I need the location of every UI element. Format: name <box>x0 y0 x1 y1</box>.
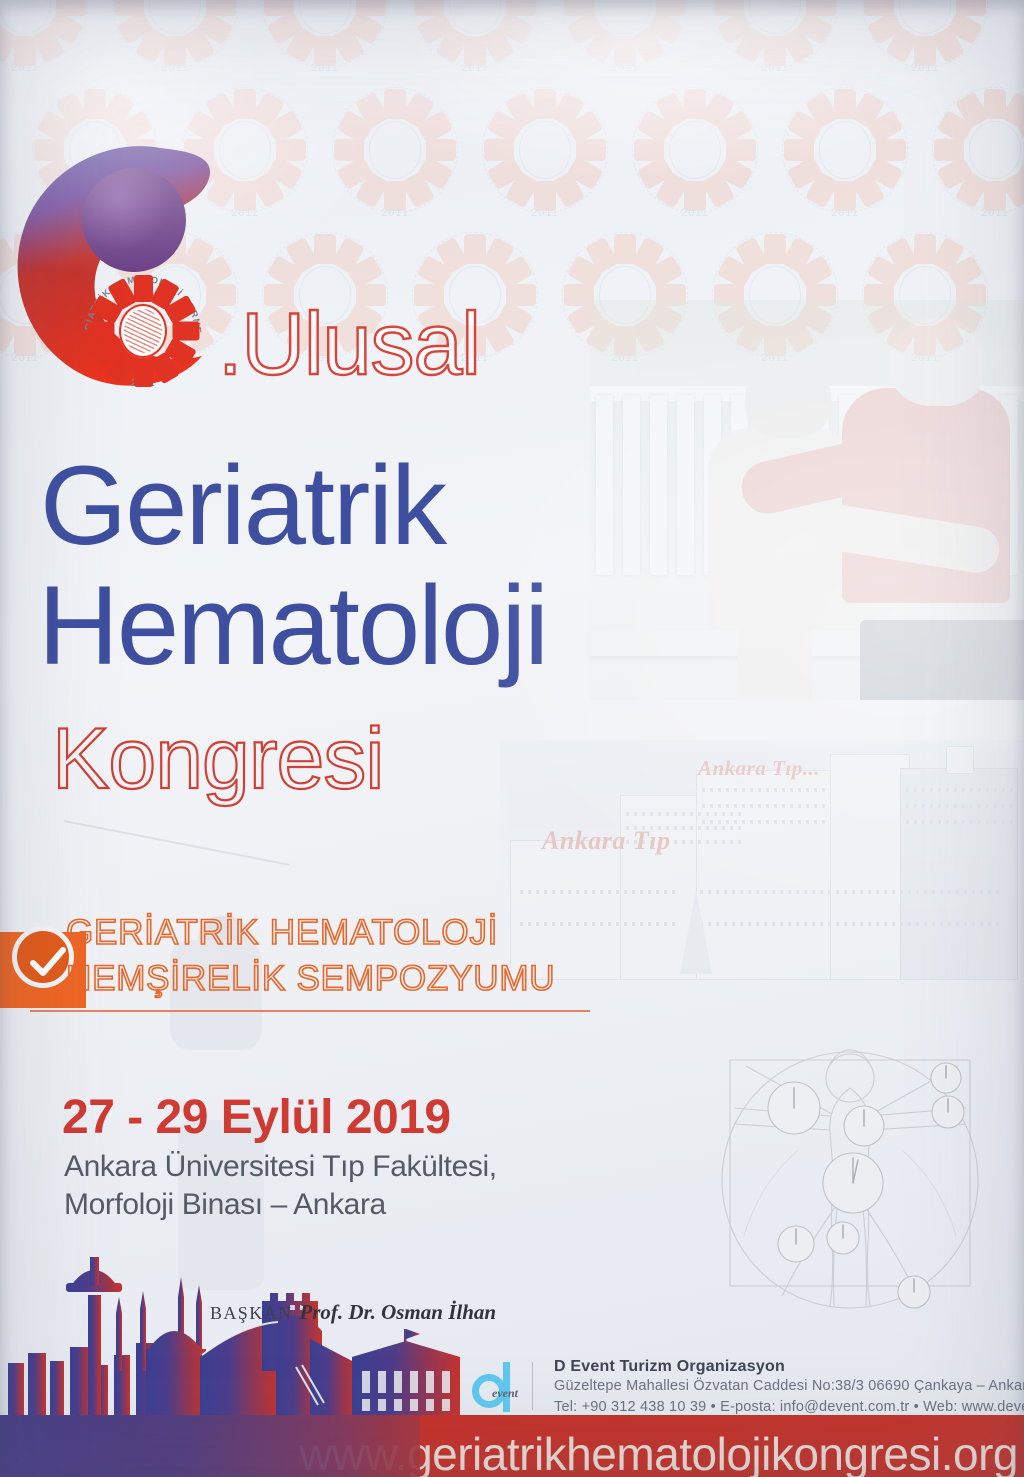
seal-petal <box>172 322 199 341</box>
association-seal: GERİATRİK HEMATOLOJİ DERNEĞİ 2011 <box>84 272 202 390</box>
devent-logo-word: event <box>492 1386 518 1401</box>
watermark-seal: 2011 <box>110 0 240 70</box>
watermark-seal: 2011 <box>480 85 610 215</box>
president-label: BAŞKAN <box>210 1303 292 1323</box>
venue-line-2: Morfoloji Binası – Ankara <box>64 1186 497 1224</box>
symposium-line-2: HEMŞİRELİK SEMPOZYUMU <box>66 959 555 999</box>
organizer-address: Güzeltepe Mahallesi Özvatan Caddesi No:3… <box>554 1376 1024 1397</box>
congress-poster: 2011201120112011201120112011201120112011… <box>0 0 1024 1477</box>
hospital-sign-lower: Ankara Tıp <box>542 826 671 856</box>
check-circle-icon <box>12 926 74 988</box>
watermark-seal: 2011 <box>410 0 540 70</box>
title-line-kongresi: Kongresi <box>52 716 383 802</box>
seal-petal <box>134 275 153 302</box>
elderly-couple-photo <box>590 300 1024 750</box>
organizer-block: event D Event Turizm Organizasyon Güzelt… <box>470 1358 1024 1418</box>
seal-petal <box>87 322 114 341</box>
watermark-seal: 2011 <box>560 0 690 70</box>
watermark-seal: 2011 <box>260 0 390 70</box>
watermark-seal: 2011 <box>0 0 90 70</box>
watermark-seal: 2011 <box>930 85 1024 215</box>
congress-venue: Ankara Üniversitesi Tıp Fakültesi, Morfo… <box>64 1148 497 1225</box>
congress-date: 27 - 29 Eylül 2019 <box>62 1090 451 1145</box>
organizer-name: D Event Turizm Organizasyon <box>554 1358 1024 1376</box>
ankara-skyline-silhouette <box>0 1235 470 1415</box>
venue-line-1: Ankara Üniversitesi Tıp Fakültesi, <box>64 1148 497 1186</box>
watermark-seal: 2011 <box>330 85 460 215</box>
symposium-block: GERİATRİK HEMATOLOJİ HEMŞİRELİK SEMPOZYU… <box>0 900 640 1020</box>
watermark-seal: 2011 <box>710 0 840 70</box>
watermark-seal: 2011 <box>630 85 760 215</box>
hospital-sign-upper: Ankara Tıp... <box>698 756 820 781</box>
watermark-seal: 2011 <box>860 0 990 70</box>
symposium-divider <box>30 1010 590 1012</box>
seal-petal <box>134 360 153 387</box>
president-signature: BAŞKANProf. Dr. Osman İlhan <box>210 1300 496 1325</box>
symposium-line-1: GERİATRİK HEMATOLOJİ <box>66 913 498 953</box>
winter-figure-photo <box>20 820 350 1300</box>
edition-ulusal: .Ulusal <box>218 300 480 388</box>
skyline-band-gradient <box>0 1415 420 1477</box>
president-name: Prof. Dr. Osman İlhan <box>299 1300 496 1324</box>
title-line-hematoloji: Hematoloji <box>38 570 547 682</box>
watermark-seal: 2011 <box>780 85 910 215</box>
title-line-geriatrik: Geriatrik <box>40 450 445 562</box>
vitruvian-man-illustration <box>690 1020 1010 1320</box>
devent-logo-icon: event <box>470 1358 528 1414</box>
